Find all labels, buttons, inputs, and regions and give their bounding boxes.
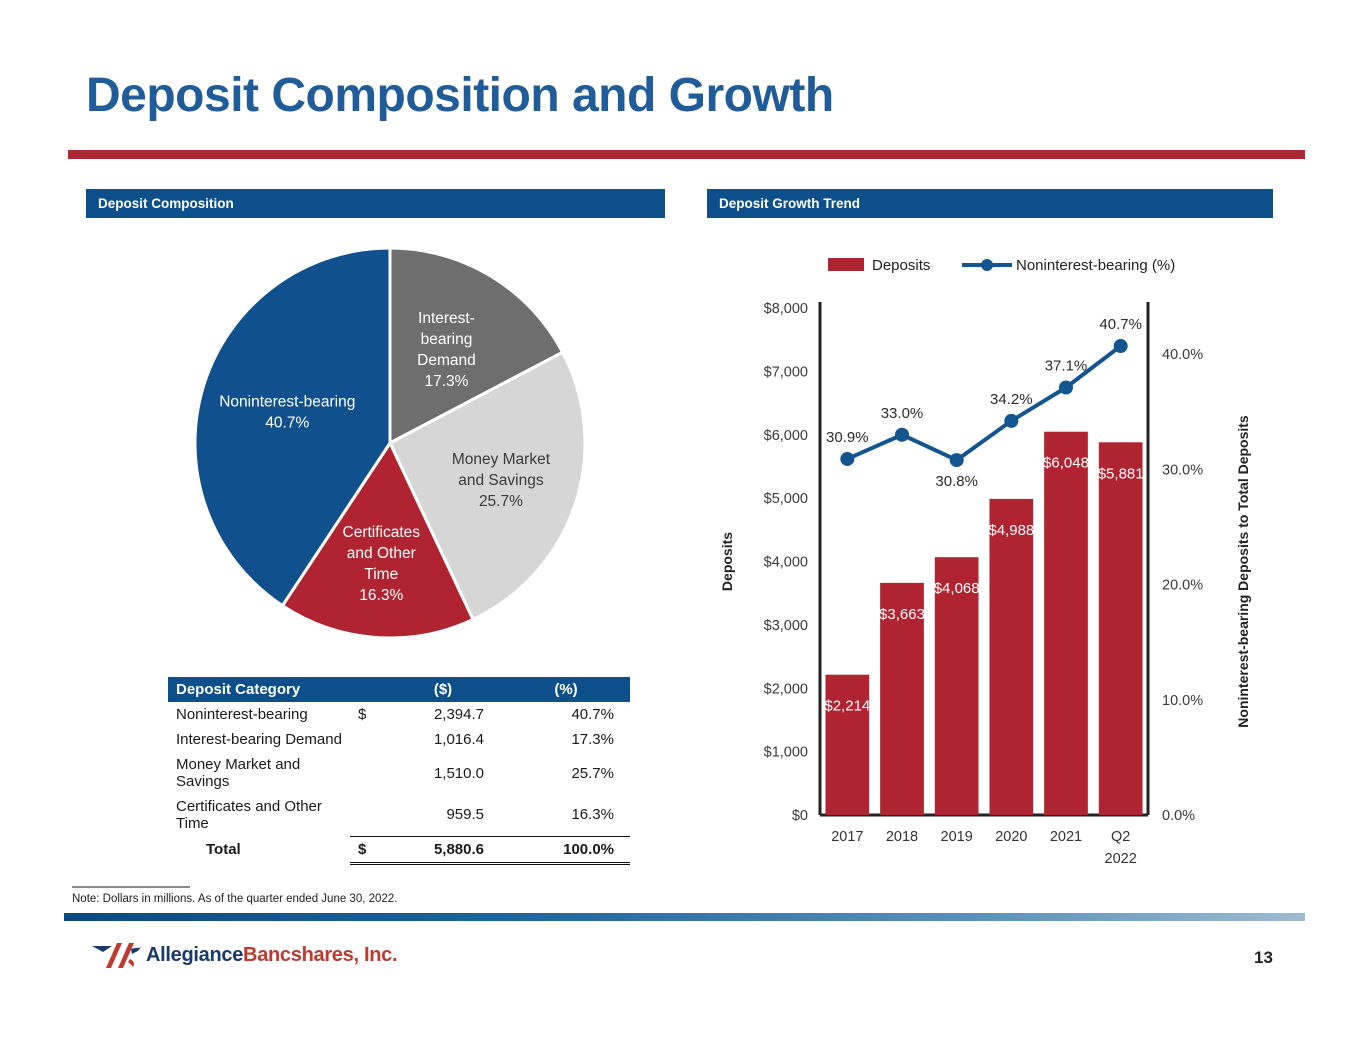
bar-value-label: $3,663 — [879, 606, 925, 623]
left-axis-tick-label: $7,000 — [764, 364, 808, 380]
legend-marker-noninterest — [981, 259, 993, 271]
pie-slice-label: and Savings — [458, 472, 544, 489]
line-marker — [1114, 339, 1128, 353]
line-marker — [840, 452, 854, 466]
pie-slice-label: Money Market — [452, 451, 551, 468]
cell-amount: 1,016.4 — [384, 727, 502, 752]
table-body: Noninterest-bearing$2,394.740.7%Interest… — [168, 702, 630, 863]
panel-header-deposit-composition: Deposit Composition — [86, 189, 665, 218]
cell-total-label: Total — [168, 836, 350, 863]
pie-slice-label: 16.3% — [359, 587, 403, 604]
pie-slice-label: Noninterest-bearing — [219, 394, 355, 411]
cell-category: Certificates and Other Time — [168, 794, 350, 836]
footer-gradient-bar — [64, 913, 1305, 921]
line-value-label: 30.8% — [935, 473, 978, 490]
line-marker — [1004, 414, 1018, 428]
chart-legend: DepositsNoninterest-bearing (%) — [828, 257, 1175, 274]
deposit-growth-trend-chart: DepositsNoninterest-bearing (%) $0$1,000… — [700, 240, 1280, 880]
col-header-amount: ($) — [384, 677, 502, 702]
bar-value-label: $4,068 — [934, 580, 980, 597]
line-marker — [895, 428, 909, 442]
right-axis-tick-label: 0.0% — [1162, 808, 1195, 824]
pie-slice-label: 40.7% — [265, 415, 309, 432]
bar — [825, 675, 869, 815]
left-axis-tick-label: $5,000 — [764, 491, 808, 507]
legend-label-noninterest: Noninterest-bearing (%) — [1016, 257, 1175, 274]
company-logo: AllegianceBancshares, Inc. — [90, 938, 397, 972]
pie-slice-label: 25.7% — [479, 493, 523, 510]
table-row: Noninterest-bearing$2,394.740.7% — [168, 702, 630, 727]
left-axis-tick-label: $8,000 — [764, 301, 808, 317]
pie-slice-label: Time — [364, 566, 398, 583]
left-axis-tick-label: $3,000 — [764, 618, 808, 634]
cell-total-currency: $ — [350, 836, 384, 863]
line-value-label: 34.2% — [990, 391, 1033, 408]
left-axis-tick-label: $4,000 — [764, 555, 808, 571]
pie-slice-label: 17.3% — [424, 373, 468, 390]
category-label: 2018 — [886, 829, 918, 845]
legend-label-deposits: Deposits — [872, 257, 930, 274]
deposit-composition-pie-chart: Interest-bearingDemand17.3%Money Marketa… — [193, 246, 587, 640]
logo-name-allegiance: Allegiance — [146, 944, 243, 966]
pie-slice-label: Interest- — [418, 310, 475, 327]
deposit-category-table: Deposit Category ($) (%) Noninterest-bea… — [168, 677, 630, 865]
bar-series: $2,214$3,663$4,068$4,988$6,048$5,881 — [824, 432, 1143, 815]
bar-value-label: $6,048 — [1043, 455, 1089, 472]
category-label: 2022 — [1105, 851, 1137, 867]
cell-currency — [350, 752, 384, 794]
cell-currency — [350, 794, 384, 836]
logo-wordmark: AllegianceBancshares, Inc. — [146, 944, 397, 967]
pie-svg: Interest-bearingDemand17.3%Money Marketa… — [193, 246, 587, 640]
category-label: 2019 — [941, 829, 973, 845]
cell-amount: 1,510.0 — [384, 752, 502, 794]
cell-total-percent: 100.0% — [502, 836, 630, 863]
cell-total-amount: 5,880.6 — [384, 836, 502, 863]
line-marker — [1059, 381, 1073, 395]
left-axis-tick-label: $2,000 — [764, 681, 808, 697]
bar — [989, 499, 1033, 815]
page-title: Deposit Composition and Growth — [86, 68, 834, 123]
cell-currency — [350, 727, 384, 752]
cell-amount: 959.5 — [384, 794, 502, 836]
category-axis-labels: 20172018201920202021Q22022 — [831, 829, 1137, 867]
cell-percent: 25.7% — [502, 752, 630, 794]
legend-swatch-deposits — [828, 258, 864, 271]
bar-value-label: $4,988 — [988, 522, 1034, 539]
right-axis-tick-label: 40.0% — [1162, 347, 1203, 363]
left-axis-tick-label: $0 — [792, 808, 808, 824]
bar-value-label: $2,214 — [824, 698, 870, 715]
category-label: 2017 — [831, 829, 863, 845]
cell-category: Money Market and Savings — [168, 752, 350, 794]
cell-currency: $ — [350, 702, 384, 727]
pie-slice-label: bearing — [421, 331, 473, 348]
line-marker — [950, 453, 964, 467]
right-axis-tick-label: 20.0% — [1162, 578, 1203, 594]
pie-slice-label: and Other — [347, 545, 416, 562]
category-label: 2021 — [1050, 829, 1082, 845]
table-row: Money Market and Savings1,510.025.7% — [168, 752, 630, 794]
cell-percent: 16.3% — [502, 794, 630, 836]
table-total-row: Total$5,880.6100.0% — [168, 836, 630, 863]
cell-category: Interest-bearing Demand — [168, 727, 350, 752]
left-axis-tick-label: $1,000 — [764, 745, 808, 761]
cell-percent: 17.3% — [502, 727, 630, 752]
title-divider — [68, 150, 1305, 159]
cell-category: Noninterest-bearing — [168, 702, 350, 727]
combo-svg: DepositsNoninterest-bearing (%) $0$1,000… — [700, 240, 1280, 880]
left-axis-tick-label: $6,000 — [764, 428, 808, 444]
line-series: 30.9%33.0%30.8%34.2%37.1%40.7% — [826, 316, 1142, 490]
cell-amount: 2,394.7 — [384, 702, 502, 727]
footnote-divider — [72, 886, 190, 888]
table-row: Interest-bearing Demand1,016.417.3% — [168, 727, 630, 752]
bar-value-label: $5,881 — [1098, 465, 1144, 482]
table-row: Certificates and Other Time959.516.3% — [168, 794, 630, 836]
right-axis-tick-label: 30.0% — [1162, 462, 1203, 478]
line-value-label: 33.0% — [881, 405, 924, 422]
line-value-label: 37.1% — [1045, 358, 1088, 375]
col-header-category: Deposit Category — [168, 677, 384, 702]
line-value-label: 40.7% — [1099, 316, 1142, 333]
cell-percent: 40.7% — [502, 702, 630, 727]
logo-name-bancshares: Bancshares, Inc. — [243, 944, 397, 966]
category-label: Q2 — [1111, 829, 1130, 845]
right-axis-tick-label: 10.0% — [1162, 693, 1203, 709]
table-header-row: Deposit Category ($) (%) — [168, 677, 630, 702]
line-value-label: 30.9% — [826, 429, 869, 446]
pie-slice-label: Certificates — [343, 524, 421, 541]
footnote: Note: Dollars in millions. As of the qua… — [72, 893, 397, 905]
bar — [1099, 442, 1143, 815]
right-axis-title: Noninterest-bearing Deposits to Total De… — [1235, 415, 1251, 728]
panel-header-deposit-growth-trend: Deposit Growth Trend — [707, 189, 1273, 218]
page-number: 13 — [1254, 948, 1273, 968]
left-axis-title: Deposits — [719, 532, 735, 591]
allegiance-flag-icon — [90, 940, 146, 970]
bar — [1044, 432, 1088, 815]
right-axis-ticks: 0.0%10.0%20.0%30.0%40.0% — [1162, 347, 1203, 824]
col-header-percent: (%) — [502, 677, 630, 702]
pie-slice-label: Demand — [417, 352, 476, 369]
category-label: 2020 — [995, 829, 1027, 845]
